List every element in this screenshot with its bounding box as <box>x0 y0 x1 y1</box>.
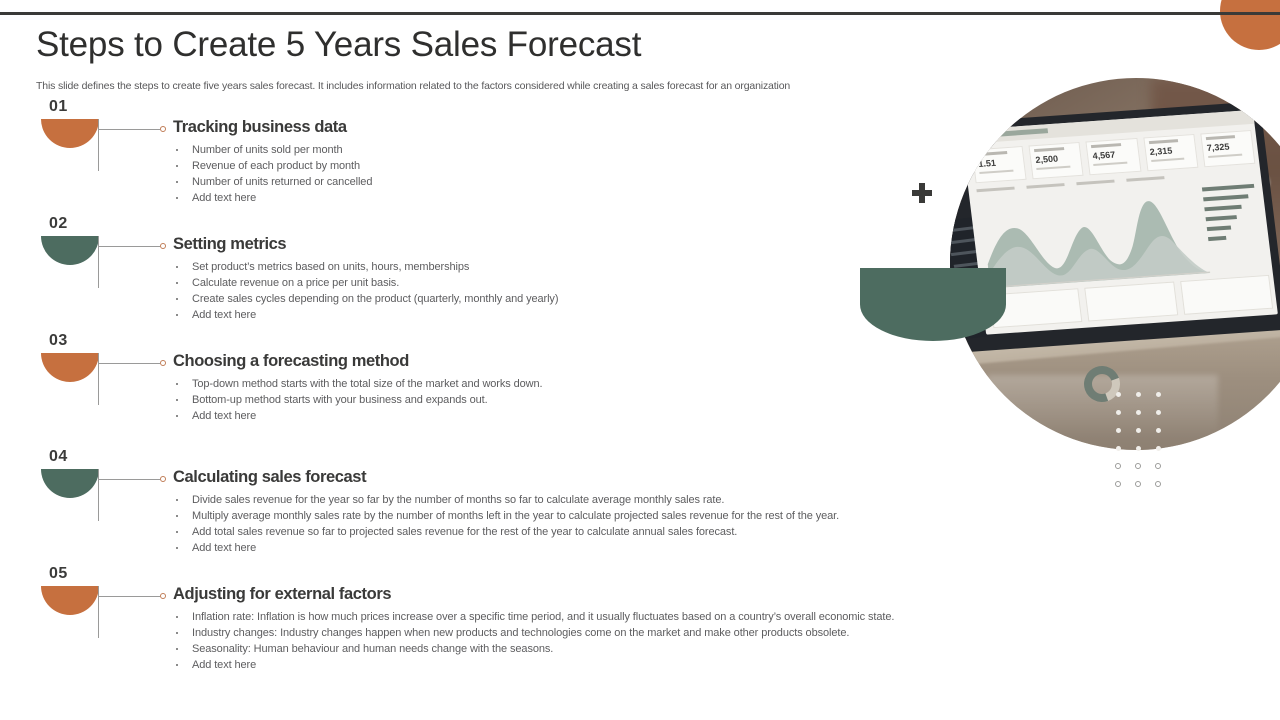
list-item: Top-down method starts with the total si… <box>173 376 542 392</box>
connector-horizontal <box>98 363 160 364</box>
dashboard-area-chart <box>980 186 1210 289</box>
list-item: Add total sales revenue so far to projec… <box>173 524 839 540</box>
connector-vertical <box>98 586 99 638</box>
list-item: Set product’s metrics based on units, ho… <box>173 259 558 275</box>
connector-vertical <box>98 353 99 405</box>
step-number: 04 <box>49 448 68 466</box>
list-item: Add text here <box>173 190 372 206</box>
connector-endpoint-dot <box>160 593 166 599</box>
kpi-value: 7,325 <box>1206 140 1249 153</box>
step-bullets: Inflation rate: Inflation is how much pr… <box>173 609 894 673</box>
kpi-value: 1.51 <box>978 156 1021 169</box>
kpi-card: 1.51 <box>972 146 1027 183</box>
step-bullets: Number of units sold per month Revenue o… <box>173 142 372 206</box>
list-item: Industry changes: Industry changes happe… <box>173 625 894 641</box>
connector-endpoint-dot <box>160 476 166 482</box>
step-heading: Calculating sales forecast <box>173 468 839 487</box>
step-body: Choosing a forecasting method Top-down m… <box>173 352 542 424</box>
dashboard-side-bars <box>1202 184 1261 247</box>
list-item: Calculate revenue on a price per unit ba… <box>173 275 558 291</box>
list-item: Add text here <box>173 657 894 673</box>
kpi-card: 2,315 <box>1143 134 1198 171</box>
plus-icon <box>910 181 934 205</box>
step-body: Setting metrics Set product’s metrics ba… <box>173 235 558 323</box>
dot-grid-decor <box>1108 385 1166 495</box>
connector-endpoint-dot <box>160 243 166 249</box>
kpi-card: 7,325 <box>1200 130 1255 167</box>
list-item: Number of units returned or cancelled <box>173 174 372 190</box>
connector-horizontal <box>98 246 160 247</box>
step-heading: Choosing a forecasting method <box>173 352 542 371</box>
connector-endpoint-dot <box>160 360 166 366</box>
step-semicircle <box>41 586 99 615</box>
step-bullets: Divide sales revenue for the year so far… <box>173 492 839 556</box>
list-item: Divide sales revenue for the year so far… <box>173 492 839 508</box>
step-number: 01 <box>49 98 68 116</box>
step-number: 03 <box>49 332 68 350</box>
kpi-value: 2,500 <box>1035 152 1078 165</box>
connector-vertical <box>98 469 99 521</box>
step-body: Calculating sales forecast Divide sales … <box>173 468 839 556</box>
connector-vertical <box>98 236 99 288</box>
step-heading: Adjusting for external factors <box>173 585 894 604</box>
list-item: Seasonality: Human behaviour and human n… <box>173 641 894 657</box>
step-number: 05 <box>49 565 68 583</box>
kpi-value: 2,315 <box>1149 144 1192 157</box>
step-bullets: Set product’s metrics based on units, ho… <box>173 259 558 323</box>
list-item: Inflation rate: Inflation is how much pr… <box>173 609 894 625</box>
list-item: Bottom-up method starts with your busine… <box>173 392 542 408</box>
green-semicircle-overlay <box>860 268 1006 341</box>
list-item: Number of units sold per month <box>173 142 372 158</box>
kpi-card: 4,567 <box>1086 138 1141 175</box>
step-body: Adjusting for external factors Inflation… <box>173 585 894 673</box>
list-item: Revenue of each product by month <box>173 158 372 174</box>
step-semicircle <box>41 353 99 382</box>
connector-vertical <box>98 119 99 171</box>
step-semicircle <box>41 236 99 265</box>
step-bullets: Top-down method starts with the total si… <box>173 376 542 424</box>
list-item: Multiply average monthly sales rate by t… <box>173 508 839 524</box>
step-body: Tracking business data Number of units s… <box>173 118 372 206</box>
kpi-card: 2,500 <box>1029 142 1084 179</box>
top-rule-divider <box>0 12 1280 15</box>
connector-horizontal <box>98 129 160 130</box>
connector-horizontal <box>98 479 160 480</box>
list-item: Add text here <box>173 540 839 556</box>
kpi-value: 4,567 <box>1092 148 1135 161</box>
step-heading: Tracking business data <box>173 118 372 137</box>
laptop-screen: 1.51 2,500 4,567 <box>961 110 1278 335</box>
slide-root: Steps to Create 5 Years Sales Forecast T… <box>0 0 1280 720</box>
step-semicircle <box>41 469 99 498</box>
step-semicircle <box>41 119 99 148</box>
list-item: Create sales cycles depending on the pro… <box>173 291 558 307</box>
step-number: 02 <box>49 215 68 233</box>
list-item: Add text here <box>173 307 558 323</box>
step-heading: Setting metrics <box>173 235 558 254</box>
connector-endpoint-dot <box>160 126 166 132</box>
list-item: Add text here <box>173 408 542 424</box>
connector-horizontal <box>98 596 160 597</box>
